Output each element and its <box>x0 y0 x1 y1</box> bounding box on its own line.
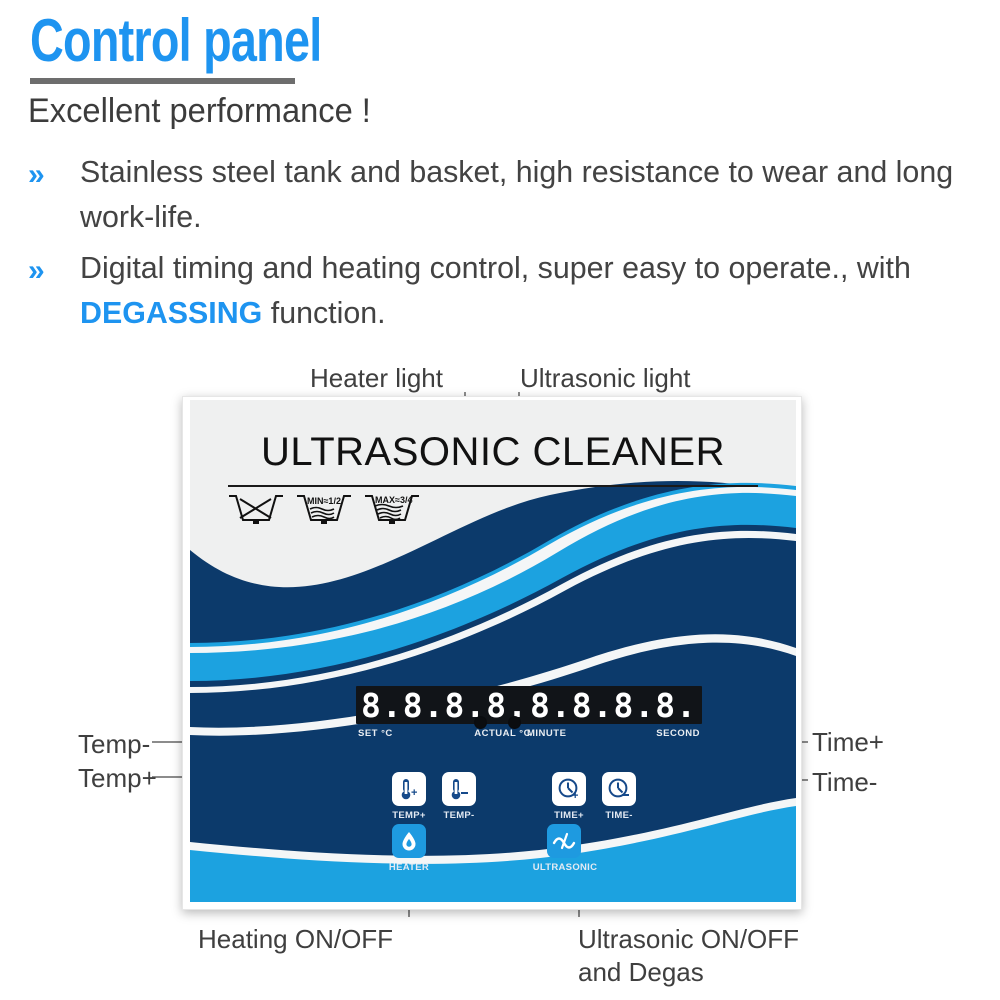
heater-lamp <box>474 716 487 729</box>
temperature-digits: 8.8.8.8. <box>361 689 528 722</box>
svg-text:+: + <box>411 787 417 799</box>
timer-led-box: 8.8.8.8. <box>525 686 702 724</box>
list-item: » Stainless steel tank and basket, high … <box>28 150 993 240</box>
minute-label: MINUTE <box>527 728 566 739</box>
thermometer-plus-icon: + <box>398 777 420 801</box>
callout-ultrasonic-light: Ultrasonic light <box>520 362 691 395</box>
timer-display-labels: MINUTE SECOND <box>525 728 702 739</box>
chevron-right-icon: » <box>28 150 80 190</box>
set-temp-label: SET °C <box>358 728 393 739</box>
list-item: » Digital timing and heating control, su… <box>28 246 993 336</box>
ultrasonic-lamp <box>508 716 521 729</box>
device-title-underline <box>228 485 758 487</box>
panel-background-waves <box>190 400 796 902</box>
ultrasonic-label: ULTRASONIC <box>520 862 610 873</box>
timer-display: 8.8.8.8. MINUTE SECOND <box>525 686 702 739</box>
time-minus-button[interactable] <box>602 772 636 806</box>
page-title: Control panel <box>30 8 321 74</box>
callout-time-plus: Time+ <box>812 726 884 759</box>
time-minus-label: TIME- <box>586 810 652 821</box>
tank-min-level-icon: MIN≈1/2 <box>294 492 354 526</box>
temperature-display: 8.8.8.8. SET °C ACTUAL °C <box>356 686 533 739</box>
subtitle: Excellent performance ! <box>28 92 371 131</box>
tank-max-level-icon: MAX≈3/4 <box>362 492 422 526</box>
heater-label: HEATER <box>372 862 446 873</box>
heater-button[interactable] <box>392 824 426 858</box>
temp-plus-button[interactable]: + <box>392 772 426 806</box>
control-panel: ULTRASONIC CLEANER MIN≈1/2 <box>190 400 796 902</box>
temperature-led-box: 8.8.8.8. <box>356 686 533 724</box>
time-plus-button[interactable]: + <box>552 772 586 806</box>
temperature-display-labels: SET °C ACTUAL °C <box>356 728 533 739</box>
infographic-page: Control panel Excellent performance ! » … <box>0 0 1000 1000</box>
callout-heater-light: Heater light <box>310 362 443 395</box>
clock-minus-icon <box>607 777 631 801</box>
clock-plus-icon: + <box>557 777 581 801</box>
callout-ultrasonic-onoff-line2: and Degas <box>578 956 799 989</box>
thermometer-minus-icon <box>448 777 470 801</box>
feature-text: Digital timing and heating control, supe… <box>80 246 975 336</box>
tank-level-icons: MIN≈1/2 MAX≈3/4 <box>226 492 422 526</box>
timer-digits: 8.8.8.8. <box>530 689 697 722</box>
tank-empty-forbidden-icon <box>226 492 286 526</box>
callout-time-minus: Time- <box>812 766 877 799</box>
feature-text: Stainless steel tank and basket, high re… <box>80 150 975 240</box>
device-title: ULTRASONIC CLEANER <box>190 430 796 475</box>
callout-heating-onoff: Heating ON/OFF <box>198 923 393 956</box>
second-label: SECOND <box>656 728 700 739</box>
title-divider <box>30 78 295 84</box>
svg-text:+: + <box>572 790 578 801</box>
callout-temp-minus: Temp- <box>78 728 150 761</box>
ultrasonic-button[interactable] <box>547 824 581 858</box>
degassing-highlight: DEGASSING <box>80 295 262 330</box>
tank-min-label: MIN≈1/2 <box>307 496 341 506</box>
temp-minus-button[interactable] <box>442 772 476 806</box>
callout-temp-plus: Temp+ <box>78 762 157 795</box>
wave-icon <box>552 830 576 852</box>
callout-ultrasonic-onoff: Ultrasonic ON/OFF and Degas <box>578 923 799 988</box>
water-drop-icon <box>399 830 419 852</box>
callout-ultrasonic-onoff-line1: Ultrasonic ON/OFF <box>578 923 799 956</box>
tank-max-label: MAX≈3/4 <box>375 495 412 505</box>
temp-minus-label: TEMP- <box>426 810 492 821</box>
actual-temp-label: ACTUAL °C <box>474 728 531 739</box>
chevron-right-icon: » <box>28 246 80 286</box>
feature-list: » Stainless steel tank and basket, high … <box>28 150 993 342</box>
